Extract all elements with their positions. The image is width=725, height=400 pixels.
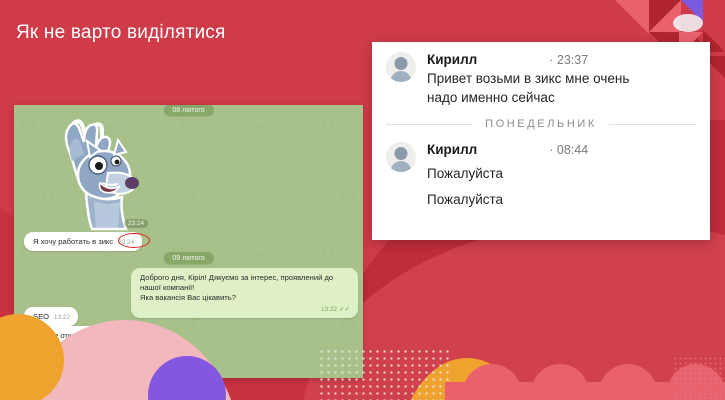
date-chip-2: 09 лютого: [163, 252, 213, 264]
message-author: Кирилл: [427, 142, 477, 157]
day-divider: ПОНЕДЕЛЬНИК: [386, 118, 696, 130]
message-time: 13:22: [321, 306, 337, 313]
message-text-line-1: Доброго дня, Кіріл! Дякуємо за інтерес, …: [140, 273, 350, 293]
messenger-card: Кирилл · 23:37 Привет возьми в зикс мне …: [372, 42, 710, 240]
message-text: Я хочу работать в зикс: [33, 237, 113, 246]
message-text-line-2: Пожалуйста: [427, 190, 696, 209]
wolf-waving-sticker: [42, 113, 146, 231]
page-title: Як не варто виділятися: [16, 22, 225, 44]
message-bubble-in-1[interactable]: Я хочу работать в зикс 23:24: [24, 232, 142, 251]
slide-root: Як не варто виділятися 08 лютого: [0, 0, 725, 400]
decor-dot-grid: [318, 348, 450, 400]
decor-scallop-wave: [445, 358, 725, 400]
message-bubble-out-1[interactable]: Доброго дня, Кіріл! Дякуємо за інтерес, …: [131, 268, 358, 318]
message-text-line-1: Пожалуйста: [427, 164, 696, 183]
message-text-line-1: Привет возьми в зикс мне очень: [427, 69, 696, 88]
message-time: · 23:37: [549, 53, 588, 67]
message-text-line-2: надо именно сейчас: [427, 88, 696, 107]
message-block-2[interactable]: Кирилл · 08:44 Пожалуйста Пожалуйста: [372, 130, 710, 211]
message-text-line-2: Яка вакансія Вас цікавить?: [140, 293, 350, 303]
message-author: Кирилл: [427, 52, 477, 67]
message-block-1[interactable]: Кирилл · 23:37 Привет возьми в зикс мне …: [372, 42, 710, 109]
message-time: 13:22: [54, 314, 70, 321]
date-chip-1: 08 лютого: [163, 105, 213, 116]
sticker-timestamp: 23:24: [124, 219, 148, 228]
day-divider-label: ПОНЕДЕЛЬНИК: [473, 118, 609, 130]
avatar: [386, 142, 416, 172]
avatar: [386, 52, 416, 82]
read-receipt-icon: ✓✓: [339, 306, 350, 313]
message-time: · 08:44: [549, 143, 588, 157]
message-time: 23:24: [118, 239, 134, 246]
